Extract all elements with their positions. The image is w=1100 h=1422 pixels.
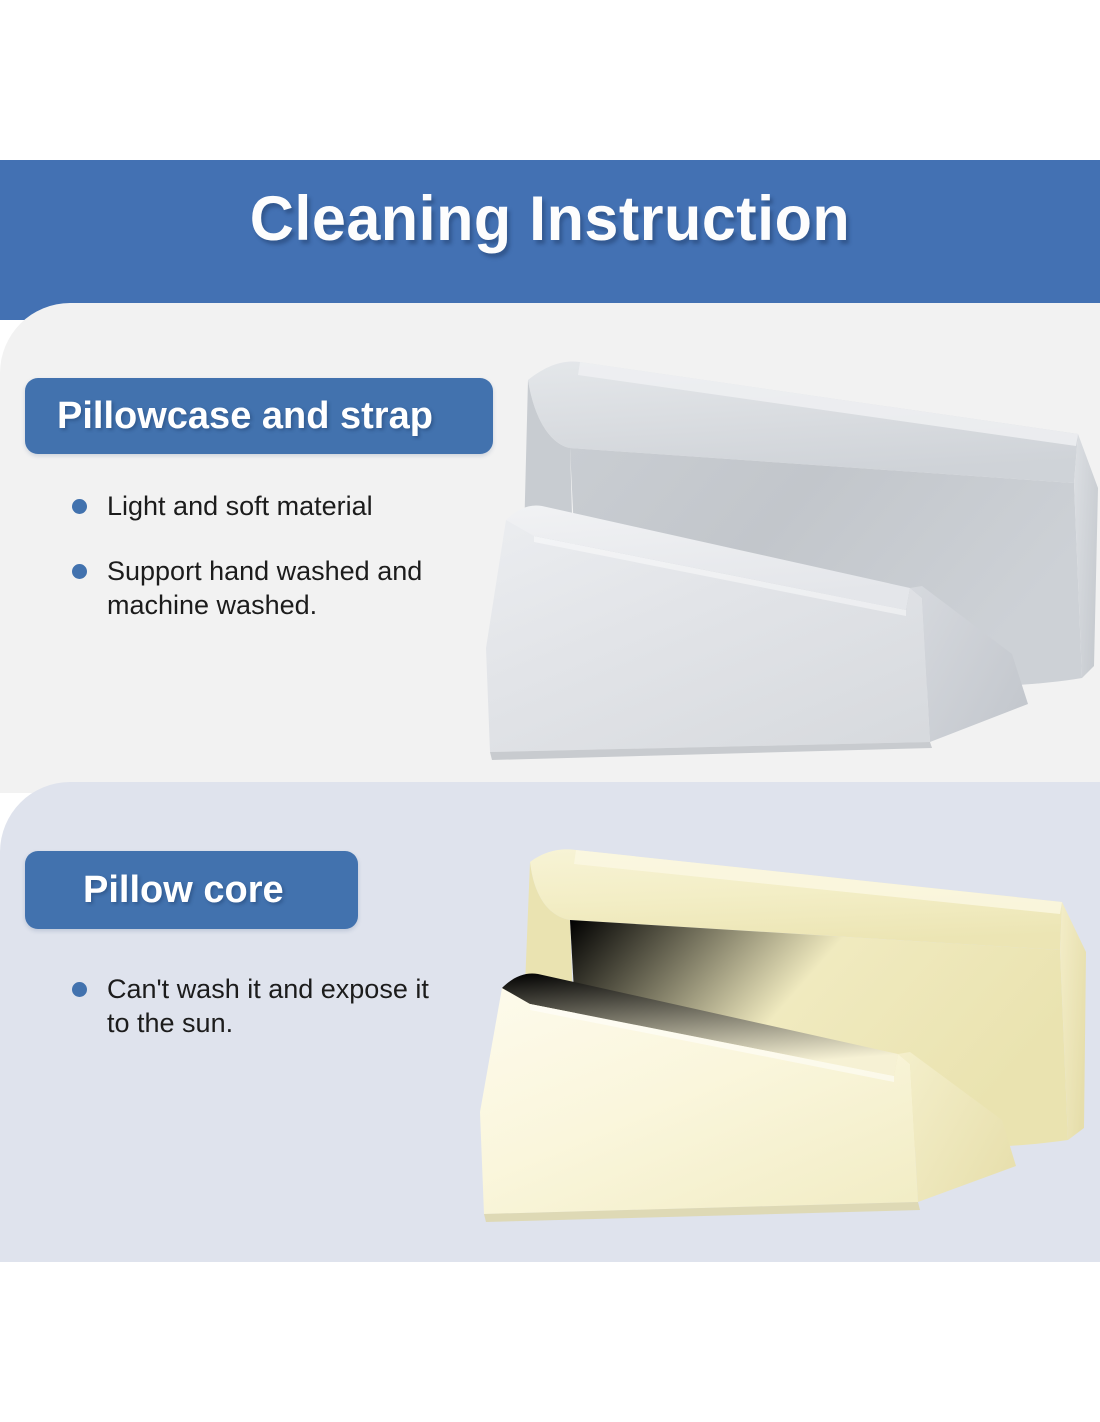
badge-pillowcase-label: Pillowcase and strap [57,395,433,438]
badge-pillow-core: Pillow core [25,851,358,929]
bullet-text: Support hand washed and machine washed. [107,556,422,620]
list-item: Support hand washed and machine washed. [72,554,452,622]
gray-pillowcase-wedge-pair-image [430,348,1100,778]
infographic-page: Cleaning Instruction [0,0,1100,1422]
bullet-dot-icon [72,564,87,579]
badge-pillowcase-and-strap: Pillowcase and strap [25,378,493,454]
bullet-text: Light and soft material [107,491,373,521]
list-item: Can't wash it and expose it to the sun. [72,972,452,1040]
badge-pillow-core-label: Pillow core [83,869,284,912]
page-title: Cleaning Instruction [17,188,1084,251]
list-item: Light and soft material [72,489,452,523]
bullet-dot-icon [72,499,87,514]
letterbox-top [0,0,1100,160]
bullet-list-pillowcase: Light and soft material Support hand was… [72,489,452,622]
letterbox-bottom [0,1262,1100,1422]
bullet-dot-icon [72,982,87,997]
bullet-text: Can't wash it and expose it to the sun. [107,974,429,1038]
yellow-foam-illustration [430,840,1100,1240]
bullet-list-pillow-core: Can't wash it and expose it to the sun. [72,972,452,1040]
yellow-foam-wedge-pair-image [430,840,1100,1240]
gray-pillow-illustration [430,348,1100,778]
